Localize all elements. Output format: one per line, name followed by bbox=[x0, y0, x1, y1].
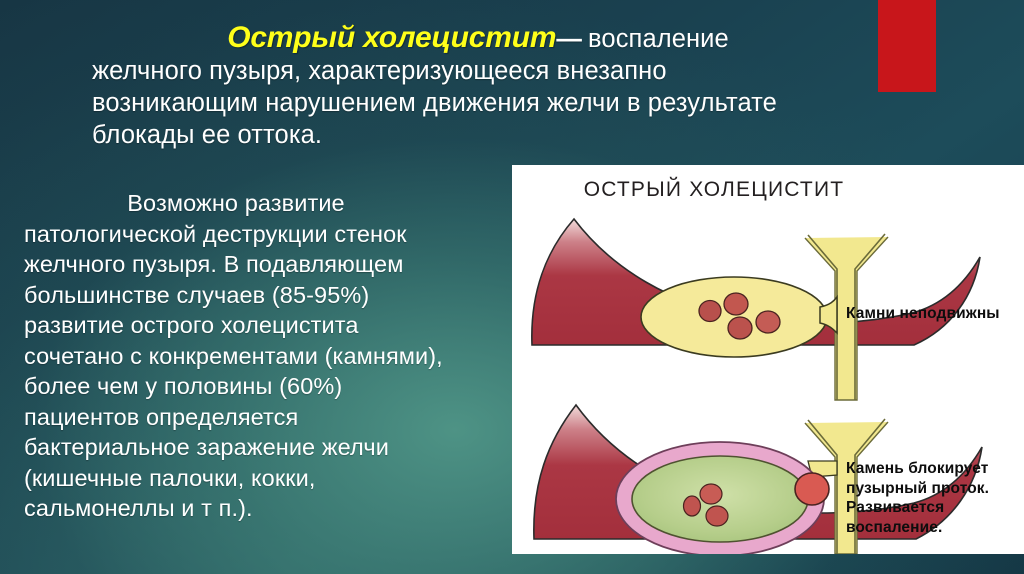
page-title: Острый холецистит bbox=[227, 21, 556, 54]
intro-line-4: блокады ее оттока. bbox=[78, 119, 878, 151]
body-line: более чем у половины (60%) bbox=[24, 371, 494, 402]
gallstone bbox=[706, 506, 728, 526]
figure-caption-top: Камни неподвижны bbox=[846, 304, 1000, 324]
body-line: большинстве случаев (85-95%) bbox=[24, 280, 494, 311]
gallstone bbox=[724, 293, 748, 315]
figure-caption-bottom-line: Камень блокирует bbox=[846, 459, 989, 479]
body-line: пациентов определяется bbox=[24, 402, 494, 433]
intro-text-block: Острый холецистит— воспаление желчного п… bbox=[78, 22, 878, 151]
figure-caption-bottom-line: Развивается bbox=[846, 498, 989, 518]
gallstone bbox=[756, 311, 780, 333]
illustration-panel: ОСТРЫЙ ХОЛЕЦИСТИТ bbox=[512, 165, 1024, 554]
intro-line-2: желчного пузыря, характеризующееся внеза… bbox=[78, 55, 878, 87]
body-text-block: Возможно развитие патологической деструк… bbox=[24, 188, 494, 524]
body-line: сальмонеллы и т п.). bbox=[24, 493, 494, 524]
red-accent-bar bbox=[878, 0, 936, 92]
body-line: патологической деструкции стенок bbox=[24, 219, 494, 250]
presentation-slide: Острый холецистит— воспаление желчного п… bbox=[0, 0, 1024, 574]
body-line: бактериальное заражение желчи bbox=[24, 432, 494, 463]
slide-title-line: Острый холецистит— воспаление bbox=[78, 22, 878, 55]
body-line: желчного пузыря. В подавляющем bbox=[24, 249, 494, 280]
body-line: развитие острого холецистита bbox=[24, 310, 494, 341]
figure-caption-bottom-line: воспаление. bbox=[846, 518, 989, 538]
body-line: Возможно развитие bbox=[24, 188, 494, 219]
intro-line-3: возникающим нарушением движения желчи в … bbox=[78, 87, 878, 119]
title-dash: — bbox=[556, 25, 581, 53]
figure-caption-bottom-line: пузырный проток. bbox=[846, 479, 989, 499]
figure-caption-bottom: Камень блокирует пузырный проток. Развив… bbox=[846, 459, 989, 537]
gallstone bbox=[728, 317, 752, 339]
body-line: (кишечные палочки, кокки, bbox=[24, 463, 494, 494]
gallstone bbox=[699, 301, 721, 322]
figure-title: ОСТРЫЙ ХОЛЕЦИСТИТ bbox=[512, 178, 916, 202]
body-line: сочетано с конкрементами (камнями), bbox=[24, 341, 494, 372]
gallstone bbox=[700, 484, 722, 504]
title-continuation: воспаление bbox=[581, 25, 729, 53]
impacted-gallstone bbox=[795, 473, 829, 505]
gallbladder-normal bbox=[641, 277, 827, 357]
gallstone bbox=[684, 496, 701, 516]
